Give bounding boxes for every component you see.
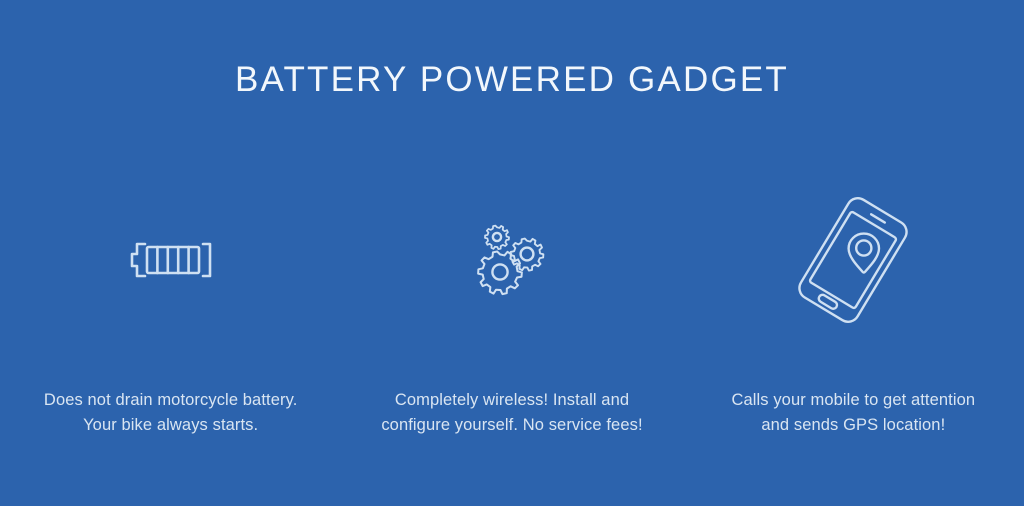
- battery-icon: [125, 190, 217, 330]
- caption-line: Your bike always starts.: [0, 413, 341, 438]
- caption-line: configure yourself. No service fees!: [341, 413, 682, 438]
- caption-line: Completely wireless! Install and: [341, 388, 682, 413]
- feature-item-wireless: Completely wireless! Install and configu…: [341, 190, 682, 437]
- feature-item-gps: Calls your mobile to get attention and s…: [683, 190, 1024, 437]
- hero-section: BATTERY POWERED GADGET: [0, 0, 1024, 506]
- feature-caption-wireless: Completely wireless! Install and configu…: [341, 388, 682, 437]
- feature-caption-gps: Calls your mobile to get attention and s…: [683, 388, 1024, 437]
- gears-icon: [469, 190, 555, 330]
- smartphone-gps-location-icon: [787, 190, 919, 330]
- feature-caption-battery: Does not drain motorcycle battery. Your …: [0, 388, 341, 437]
- feature-list: Does not drain motorcycle battery. Your …: [0, 190, 1024, 437]
- feature-item-battery: Does not drain motorcycle battery. Your …: [0, 190, 341, 437]
- caption-line: Calls your mobile to get attention: [683, 388, 1024, 413]
- caption-line: and sends GPS location!: [683, 413, 1024, 438]
- caption-line: Does not drain motorcycle battery.: [0, 388, 341, 413]
- page-title: BATTERY POWERED GADGET: [0, 58, 1024, 102]
